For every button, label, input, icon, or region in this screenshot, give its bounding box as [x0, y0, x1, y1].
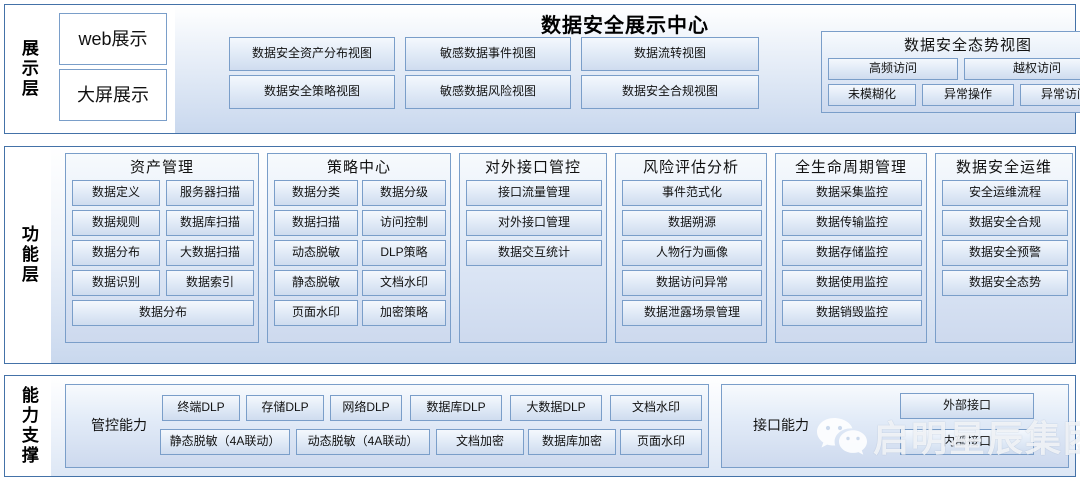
group-policy-center-title: 策略中心 — [268, 156, 450, 177]
group-security-operations: 数据安全运维 安全运维流程 数据安全合规 数据安全预警 数据安全态势 — [935, 153, 1073, 343]
asset-data-index[interactable]: 数据索引 — [166, 270, 254, 296]
architecture-diagram: 展示层 web展示 大屏展示 数据安全展示中心 数据安全资产分布视图 敏感数据事… — [0, 0, 1080, 481]
control-database-dlp[interactable]: 数据库DLP — [410, 395, 502, 421]
lifecycle-collection-monitor[interactable]: 数据采集监控 — [782, 180, 922, 206]
policy-page-watermark[interactable]: 页面水印 — [274, 300, 358, 326]
situation-unmasked[interactable]: 未模糊化 — [828, 84, 916, 106]
situation-privilege-escalation-access[interactable]: 越权访问 — [964, 58, 1080, 80]
view-asset-distribution[interactable]: 数据安全资产分布视图 — [229, 37, 395, 71]
group-interface-capability: 接口能力 外部接口 内部接口 — [721, 384, 1069, 468]
control-bigdata-dlp[interactable]: 大数据DLP — [510, 395, 602, 421]
situation-high-frequency-access[interactable]: 高频访问 — [828, 58, 958, 80]
interface-capability-label: 接口能力 — [738, 415, 824, 435]
risk-user-behavior-profile[interactable]: 人物行为画像 — [622, 240, 762, 266]
asset-data-distribution-full[interactable]: 数据分布 — [72, 300, 254, 326]
function-layer-label: 功能层 — [5, 147, 51, 363]
policy-dlp-policy[interactable]: DLP策略 — [362, 240, 446, 266]
function-layer: 功能层 资产管理 数据定义 服务器扫描 数据规则 数据库扫描 数据分布 大数据扫… — [4, 146, 1076, 364]
policy-encryption-policy[interactable]: 加密策略 — [362, 300, 446, 326]
view-security-policy[interactable]: 数据安全策略视图 — [229, 75, 395, 109]
group-lifecycle-management-title: 全生命周期管理 — [776, 156, 926, 177]
view-sensitive-risk[interactable]: 敏感数据风险视图 — [405, 75, 571, 109]
situation-view-group: 数据安全态势视图 高频访问 越权访问 未模糊化 异常操作 异常访问 — [821, 31, 1080, 113]
group-external-interface-control: 对外接口管控 接口流量管理 对外接口管理 数据交互统计 — [459, 153, 607, 343]
capability-layer: 能力支撑 管控能力 终端DLP 存储DLP 网络DLP 数据库DLP 大数据DL… — [4, 375, 1076, 477]
policy-document-watermark[interactable]: 文档水印 — [362, 270, 446, 296]
control-endpoint-dlp[interactable]: 终端DLP — [162, 395, 240, 421]
ops-security-situation[interactable]: 数据安全态势 — [942, 270, 1068, 296]
risk-event-normalization[interactable]: 事件范式化 — [622, 180, 762, 206]
lifecycle-usage-monitor[interactable]: 数据使用监控 — [782, 270, 922, 296]
view-compliance[interactable]: 数据安全合规视图 — [581, 75, 759, 109]
asset-data-distribution[interactable]: 数据分布 — [72, 240, 160, 266]
capability-layer-label: 能力支撑 — [5, 376, 51, 476]
control-dynamic-masking-4a[interactable]: 动态脱敏（4A联动） — [296, 429, 430, 455]
control-network-dlp[interactable]: 网络DLP — [330, 395, 402, 421]
policy-static-masking[interactable]: 静态脱敏 — [274, 270, 358, 296]
lifecycle-destruction-monitor[interactable]: 数据销毁监控 — [782, 300, 922, 326]
lifecycle-storage-monitor[interactable]: 数据存储监控 — [782, 240, 922, 266]
group-asset-management-title: 资产管理 — [66, 156, 258, 177]
display-layer: 展示层 web展示 大屏展示 数据安全展示中心 数据安全资产分布视图 敏感数据事… — [4, 4, 1076, 134]
policy-data-grading[interactable]: 数据分级 — [362, 180, 446, 206]
ops-security-early-warning[interactable]: 数据安全预警 — [942, 240, 1068, 266]
control-document-encryption[interactable]: 文档加密 — [436, 429, 524, 455]
situation-view-title: 数据安全态势视图 — [822, 34, 1080, 55]
group-asset-management: 资产管理 数据定义 服务器扫描 数据规则 数据库扫描 数据分布 大数据扫描 数据… — [65, 153, 259, 343]
asset-data-identification[interactable]: 数据识别 — [72, 270, 160, 296]
asset-server-scan[interactable]: 服务器扫描 — [166, 180, 254, 206]
display-channel-bigscreen[interactable]: 大屏展示 — [59, 69, 167, 121]
control-document-watermark[interactable]: 文档水印 — [610, 395, 702, 421]
display-stage: 数据安全展示中心 数据安全资产分布视图 敏感数据事件视图 数据流转视图 数据安全… — [175, 5, 1075, 133]
iface-data-exchange-stats[interactable]: 数据交互统计 — [466, 240, 602, 266]
control-page-watermark[interactable]: 页面水印 — [620, 429, 702, 455]
view-sensitive-event[interactable]: 敏感数据事件视图 — [405, 37, 571, 71]
risk-leak-scenario-management[interactable]: 数据泄露场景管理 — [622, 300, 762, 326]
view-data-flow[interactable]: 数据流转视图 — [581, 37, 759, 71]
policy-dynamic-masking[interactable]: 动态脱敏 — [274, 240, 358, 266]
group-external-interface-control-title: 对外接口管控 — [460, 156, 606, 177]
function-layer-body: 资产管理 数据定义 服务器扫描 数据规则 数据库扫描 数据分布 大数据扫描 数据… — [51, 147, 1075, 363]
group-control-capability: 管控能力 终端DLP 存储DLP 网络DLP 数据库DLP 大数据DLP 文档水… — [65, 384, 709, 468]
control-capability-label: 管控能力 — [76, 415, 162, 435]
situation-abnormal-access[interactable]: 异常访问 — [1020, 84, 1080, 106]
group-security-operations-title: 数据安全运维 — [936, 156, 1072, 177]
group-lifecycle-management: 全生命周期管理 数据采集监控 数据传输监控 数据存储监控 数据使用监控 数据销毁… — [775, 153, 927, 343]
ops-security-process[interactable]: 安全运维流程 — [942, 180, 1068, 206]
risk-data-traceability[interactable]: 数据朔源 — [622, 210, 762, 236]
capability-layer-body: 管控能力 终端DLP 存储DLP 网络DLP 数据库DLP 大数据DLP 文档水… — [51, 376, 1075, 476]
control-database-encryption[interactable]: 数据库加密 — [528, 429, 616, 455]
asset-data-rule[interactable]: 数据规则 — [72, 210, 160, 236]
asset-bigdata-scan[interactable]: 大数据扫描 — [166, 240, 254, 266]
group-risk-assessment: 风险评估分析 事件范式化 数据朔源 人物行为画像 数据访问异常 数据泄露场景管理 — [615, 153, 767, 343]
control-storage-dlp[interactable]: 存储DLP — [246, 395, 324, 421]
interface-internal[interactable]: 内部接口 — [900, 429, 1034, 455]
group-risk-assessment-title: 风险评估分析 — [616, 156, 766, 177]
risk-abnormal-data-access[interactable]: 数据访问异常 — [622, 270, 762, 296]
asset-database-scan[interactable]: 数据库扫描 — [166, 210, 254, 236]
policy-access-control[interactable]: 访问控制 — [362, 210, 446, 236]
display-layer-label: 展示层 — [5, 5, 51, 133]
control-static-masking-4a[interactable]: 静态脱敏（4A联动） — [160, 429, 290, 455]
iface-external-management[interactable]: 对外接口管理 — [466, 210, 602, 236]
interface-external[interactable]: 外部接口 — [900, 393, 1034, 419]
lifecycle-transmission-monitor[interactable]: 数据传输监控 — [782, 210, 922, 236]
asset-data-definition[interactable]: 数据定义 — [72, 180, 160, 206]
display-layer-body: web展示 大屏展示 数据安全展示中心 数据安全资产分布视图 敏感数据事件视图 … — [51, 5, 1075, 133]
display-channel-web[interactable]: web展示 — [59, 13, 167, 65]
situation-abnormal-operation[interactable]: 异常操作 — [922, 84, 1014, 106]
policy-data-classification[interactable]: 数据分类 — [274, 180, 358, 206]
iface-traffic-management[interactable]: 接口流量管理 — [466, 180, 602, 206]
group-policy-center: 策略中心 数据分类 数据分级 数据扫描 访问控制 动态脱敏 DLP策略 静态脱敏… — [267, 153, 451, 343]
ops-security-compliance[interactable]: 数据安全合规 — [942, 210, 1068, 236]
policy-data-scan[interactable]: 数据扫描 — [274, 210, 358, 236]
